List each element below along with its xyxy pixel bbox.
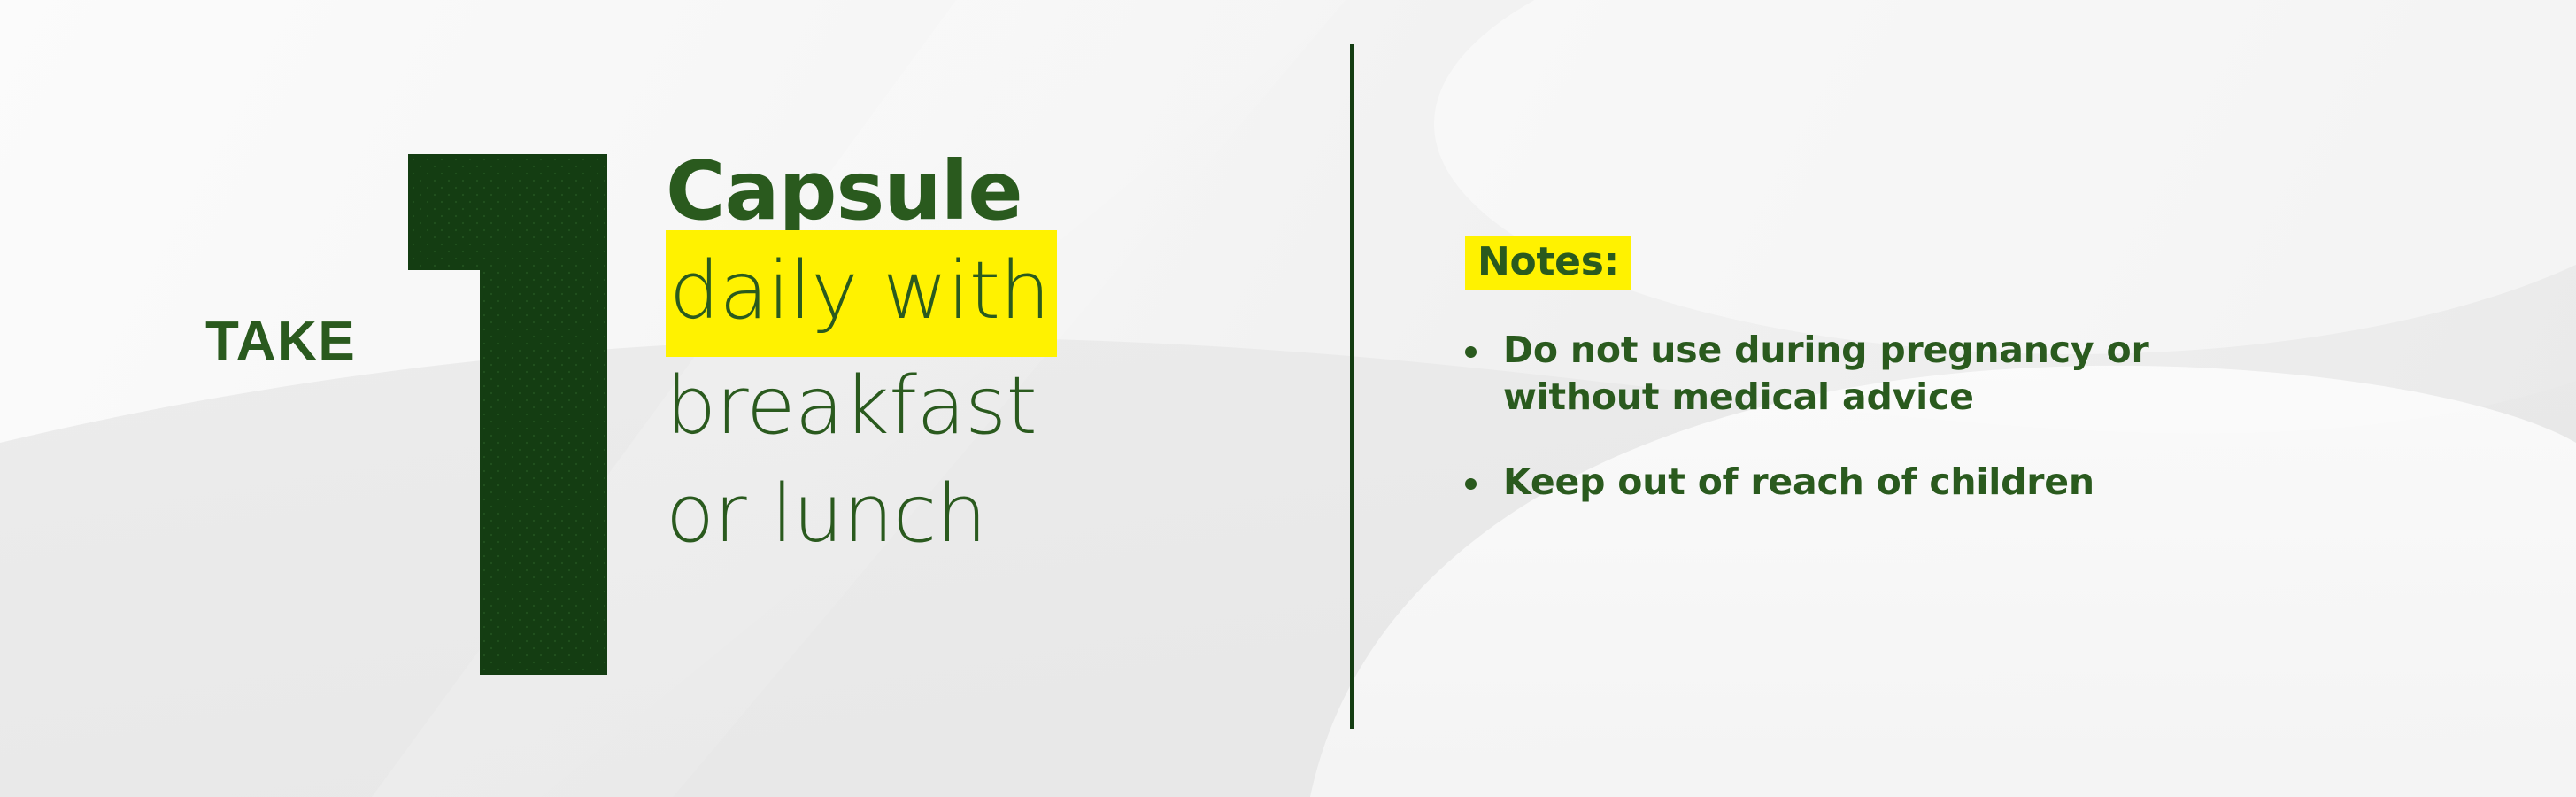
note-text: Do not use during pregnancy or without m… — [1503, 327, 2264, 420]
dose-instruction-lines: Capsule daily with breakfast or lunch — [666, 149, 1285, 579]
dose-line-breakfast: breakfast — [666, 365, 1285, 471]
bullet-icon — [1465, 346, 1477, 358]
take-label: TAKE — [205, 314, 356, 369]
vertical-divider — [1350, 44, 1354, 729]
dose-line-daily-with-wrapper: daily with — [666, 250, 1285, 363]
notes-list: Do not use during pregnancy or without m… — [1465, 327, 2510, 505]
bullet-icon — [1465, 478, 1477, 490]
note-item: Do not use during pregnancy or without m… — [1465, 327, 2510, 420]
note-text: Keep out of reach of children — [1503, 459, 2094, 505]
dose-line-or-lunch: or lunch — [666, 473, 1285, 579]
dose-quantity-numeral: 1 — [403, 149, 615, 680]
notes-section: Notes: Do not use during pregnancy or wi… — [1465, 236, 2510, 506]
note-item: Keep out of reach of children — [1465, 459, 2510, 505]
dosage-section: TAKE 1 Capsule daily with breakf — [0, 0, 1352, 797]
notes-title: Notes: — [1465, 236, 1631, 290]
dosage-banner: TAKE 1 Capsule daily with breakf — [0, 0, 2576, 797]
dose-line-daily-with: daily with — [666, 230, 1057, 357]
